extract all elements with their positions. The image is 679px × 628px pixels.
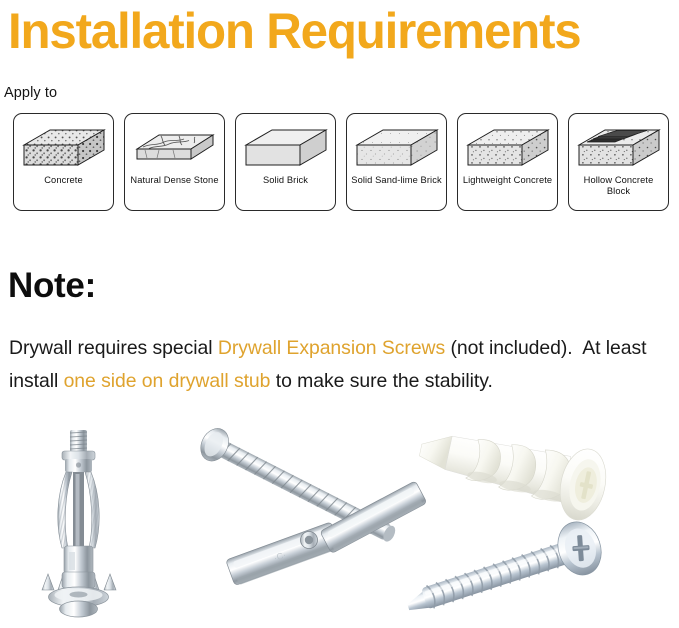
material-card-label: Solid Brick — [260, 175, 311, 186]
apply-to-label: Apply to — [4, 85, 57, 101]
material-card-label: Lightweight Concrete — [460, 175, 555, 186]
material-card-hollow-concrete-block: Hollow Concrete Block — [568, 113, 669, 211]
note-body-text: Drywall requires special Drywall Expansi… — [9, 332, 673, 398]
stone-slab-icon — [129, 121, 221, 173]
installation-requirements-page: Installation Requirements Apply to — [0, 0, 679, 628]
hardware-photo-strip: ·C· — [0, 424, 679, 628]
material-card-row: Concrete — [13, 113, 669, 211]
self-drilling-drywall-anchor-photo — [413, 424, 612, 524]
material-card-concrete: Concrete — [13, 113, 114, 211]
pan-head-phillips-screw-photo — [399, 516, 608, 628]
note-highlight-drywall-expansion-screws: Drywall Expansion Screws — [218, 337, 445, 359]
metal-hollow-wall-anchor-photo — [42, 430, 116, 617]
note-highlight-one-side-on-drywall-stub: one side on drywall stub — [64, 370, 271, 392]
hardware-illustrations: ·C· — [0, 424, 679, 628]
material-card-label: Concrete — [41, 175, 86, 186]
concrete-block-icon — [18, 121, 110, 173]
note-heading: Note: — [8, 265, 96, 307]
spring-toggle-bolt-photo: ·C· — [195, 424, 427, 586]
sand-lime-brick-icon — [351, 121, 443, 173]
note-text-1: Drywall requires special — [9, 337, 218, 359]
material-card-label: Solid Sand-lime Brick — [348, 175, 444, 186]
material-card-label: Hollow Concrete Block — [569, 175, 668, 197]
material-card-label: Natural Dense Stone — [127, 175, 221, 186]
material-card-lightweight-concrete: Lightweight Concrete — [457, 113, 558, 211]
material-card-natural-dense-stone: Natural Dense Stone — [124, 113, 225, 211]
lightweight-concrete-icon — [462, 121, 554, 173]
solid-brick-icon — [240, 121, 332, 173]
material-card-solid-brick: Solid Brick — [235, 113, 336, 211]
page-title: Installation Requirements — [8, 2, 668, 62]
material-card-solid-sand-lime-brick: Solid Sand-lime Brick — [346, 113, 447, 211]
note-text-3: to make sure the stability. — [270, 370, 492, 392]
hollow-block-icon — [573, 121, 665, 173]
